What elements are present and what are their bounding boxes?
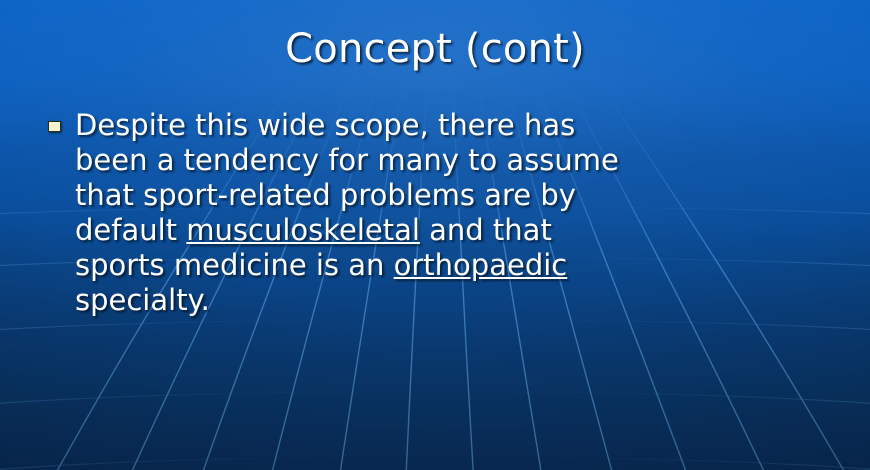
body-line-4-text-post: and that	[420, 213, 552, 247]
body-line-5: sports medicine is an orthopaedic	[75, 248, 619, 283]
term-orthopaedic: orthopaedic	[394, 248, 568, 282]
body-line-6: specialty.	[75, 283, 619, 318]
term-musculoskeletal: musculoskeletal	[186, 213, 420, 247]
body-line-3-text: that sport-related problems are by	[75, 178, 576, 212]
body-line-2: been a tendency for many to assume	[75, 143, 619, 178]
body-line-4: default musculoskeletal and that	[75, 213, 619, 248]
body-line-5-text-pre: sports medicine is an	[75, 248, 394, 282]
body-line-6-text: specialty.	[75, 283, 210, 317]
slide-body: Despite this wide scope, there has been …	[48, 108, 840, 318]
body-line-2-text: been a tendency for many to assume	[75, 143, 619, 177]
presentation-slide: Concept (cont) Despite this wide scope, …	[0, 0, 870, 470]
body-line-3: that sport-related problems are by	[75, 178, 619, 213]
body-line-4-text-pre: default	[75, 213, 186, 247]
square-bullet-icon	[48, 121, 61, 132]
slide-title: Concept (cont)	[0, 26, 870, 72]
body-line-1-text: Despite this wide scope, there has	[75, 108, 575, 142]
bullet-text-block: Despite this wide scope, there has been …	[75, 108, 619, 318]
body-line-1: Despite this wide scope, there has	[75, 108, 619, 143]
